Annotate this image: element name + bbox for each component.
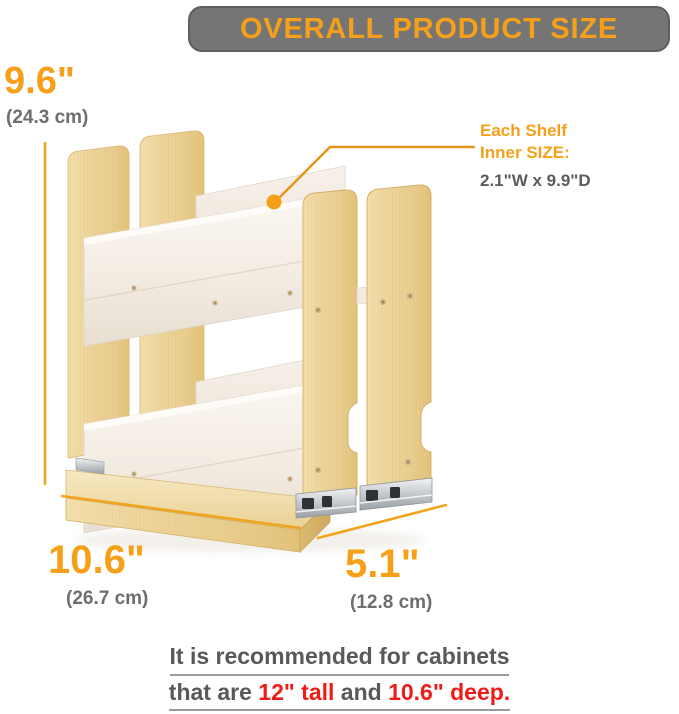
recommendation-line-1: It is recommended for cabinets bbox=[170, 640, 510, 676]
height-value: 9.6" bbox=[4, 62, 88, 100]
recommendation-line-2: that are 12" tall and 10.6" deep. bbox=[169, 676, 510, 712]
width-value: 10.6" bbox=[48, 540, 148, 580]
depth-dimension-label: 5.1" (12.8 cm) bbox=[345, 544, 432, 612]
width-metric: (26.7 cm) bbox=[66, 589, 148, 608]
recommendation-text-a: that are bbox=[169, 679, 258, 705]
callout-line-3: 2.1"W x 9.9"D bbox=[480, 170, 591, 192]
recommendation-note: It is recommended for cabinets that are … bbox=[0, 640, 679, 711]
callout-line-2: Inner SIZE: bbox=[480, 142, 591, 164]
depth-dimension-line bbox=[318, 505, 446, 538]
width-dimension-line bbox=[62, 496, 300, 528]
callout-line-1: Each Shelf bbox=[480, 120, 591, 142]
recommendation-depth: 10.6" deep. bbox=[388, 679, 510, 705]
height-metric: (24.3 cm) bbox=[6, 108, 88, 127]
width-dimension-label: 10.6" (26.7 cm) bbox=[48, 540, 148, 608]
recommendation-text-b: and bbox=[334, 679, 388, 705]
depth-metric: (12.8 cm) bbox=[350, 593, 432, 612]
height-dimension-label: 9.6" (24.3 cm) bbox=[4, 62, 88, 127]
recommendation-height: 12" tall bbox=[258, 679, 334, 705]
shelf-inner-size-callout: Each Shelf Inner SIZE: 2.1"W x 9.9"D bbox=[480, 120, 591, 192]
depth-value: 5.1" bbox=[345, 544, 432, 584]
